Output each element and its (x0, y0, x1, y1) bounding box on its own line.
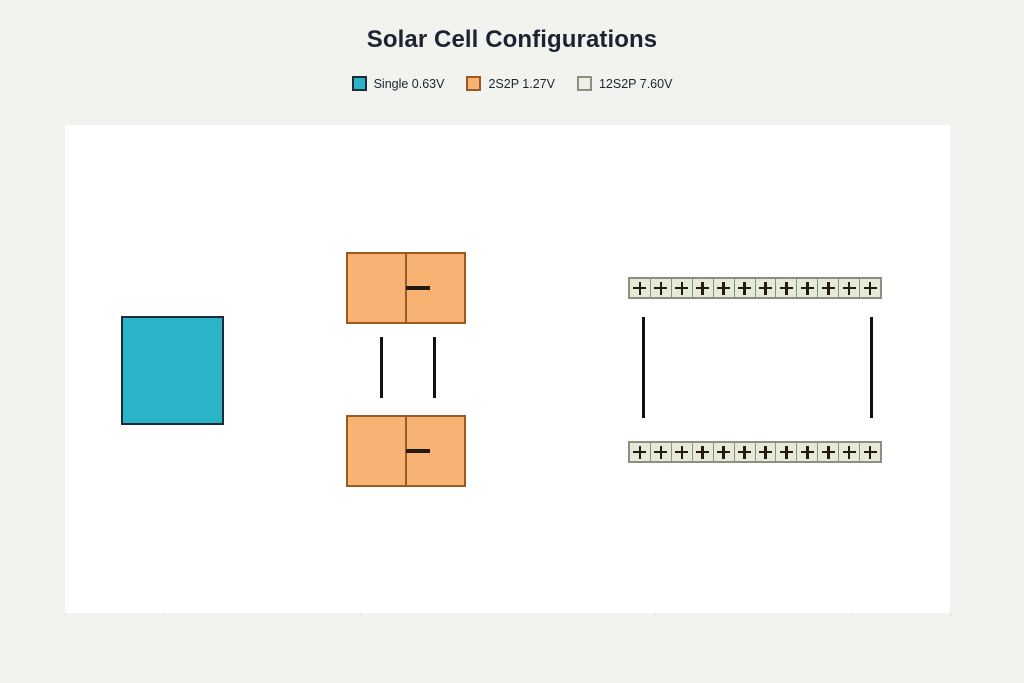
axis-tick (458, 613, 459, 618)
array-cell-segment (839, 443, 860, 461)
plus-icon (759, 446, 772, 459)
series-block-terminal (406, 286, 430, 290)
array-strip-top (628, 277, 882, 299)
array-cell-segment (714, 279, 735, 297)
plus-icon (654, 282, 667, 295)
series-connector-left (380, 337, 383, 398)
series-block-bottom (346, 415, 466, 487)
solar-cell-configurations-figure: Solar Cell Configurations Single 0.63V 2… (0, 0, 1024, 683)
plus-icon (759, 282, 772, 295)
plus-icon (675, 446, 688, 459)
axis-tick (557, 613, 558, 618)
legend-swatch-single-icon (352, 76, 367, 91)
legend-item-2s2p[interactable]: 2S2P 1.27V (466, 76, 555, 91)
plus-icon (654, 446, 667, 459)
array-connector-right (870, 317, 873, 418)
axis-tick (65, 613, 66, 618)
legend: Single 0.63V 2S2P 1.27V 12S2P 7.60V (0, 76, 1024, 91)
array-cell-segment (839, 279, 860, 297)
array-cell-segment (797, 443, 818, 461)
array-cell-segment (693, 443, 714, 461)
array-connector-left (642, 317, 645, 418)
plus-icon (738, 446, 751, 459)
plus-icon (801, 282, 814, 295)
plus-icon (822, 282, 835, 295)
plus-icon (696, 446, 709, 459)
plus-icon (822, 446, 835, 459)
series-block-top (346, 252, 466, 324)
legend-item-12s2p[interactable]: 12S2P 7.60V (577, 76, 672, 91)
axis-tick (753, 613, 754, 618)
array-cell-segment (860, 443, 880, 461)
plus-icon (696, 282, 709, 295)
legend-label-single: Single 0.63V (374, 77, 445, 91)
array-strip-bottom (628, 441, 882, 463)
array-cell-segment (672, 443, 693, 461)
array-cell-segment (735, 443, 756, 461)
legend-label-2s2p: 2S2P 1.27V (488, 77, 555, 91)
plus-icon (780, 282, 793, 295)
plus-icon (717, 446, 730, 459)
array-cell-segment (630, 443, 651, 461)
plus-icon (738, 282, 751, 295)
page-title: Solar Cell Configurations (0, 26, 1024, 54)
plus-icon (864, 446, 877, 459)
array-cell-segment (818, 443, 839, 461)
axis-tick (163, 613, 164, 618)
array-cell-segment (756, 279, 777, 297)
array-cell-segment (860, 279, 880, 297)
legend-swatch-12s2p-icon (577, 76, 592, 91)
array-cell-segment (714, 443, 735, 461)
array-cell-segment (776, 279, 797, 297)
array-cell-segment (672, 279, 693, 297)
array-cell-segment (651, 443, 672, 461)
array-cell-segment (735, 279, 756, 297)
plus-icon (717, 282, 730, 295)
plus-icon (633, 282, 646, 295)
plus-icon (675, 282, 688, 295)
array-cell-segment (651, 279, 672, 297)
legend-item-single[interactable]: Single 0.63V (352, 76, 445, 91)
axis-tick (360, 613, 361, 618)
legend-label-12s2p: 12S2P 7.60V (599, 77, 672, 91)
plus-icon (633, 446, 646, 459)
array-cell-segment (797, 279, 818, 297)
axis-tick (950, 613, 951, 618)
legend-swatch-2s2p-icon (466, 76, 481, 91)
plus-icon (843, 446, 856, 459)
plus-icon (864, 282, 877, 295)
plus-icon (801, 446, 814, 459)
axis-tick (262, 613, 263, 618)
single-cell-shape (121, 316, 224, 425)
series-connector-right (433, 337, 436, 398)
array-cell-segment (693, 279, 714, 297)
axis-tick (852, 613, 853, 618)
array-cell-segment (818, 279, 839, 297)
plus-icon (843, 282, 856, 295)
array-cell-segment (776, 443, 797, 461)
array-cell-segment (756, 443, 777, 461)
plus-icon (780, 446, 793, 459)
axis-ticks (65, 613, 950, 619)
array-cell-segment (630, 279, 651, 297)
axis-tick (655, 613, 656, 618)
series-block-terminal (406, 449, 430, 453)
